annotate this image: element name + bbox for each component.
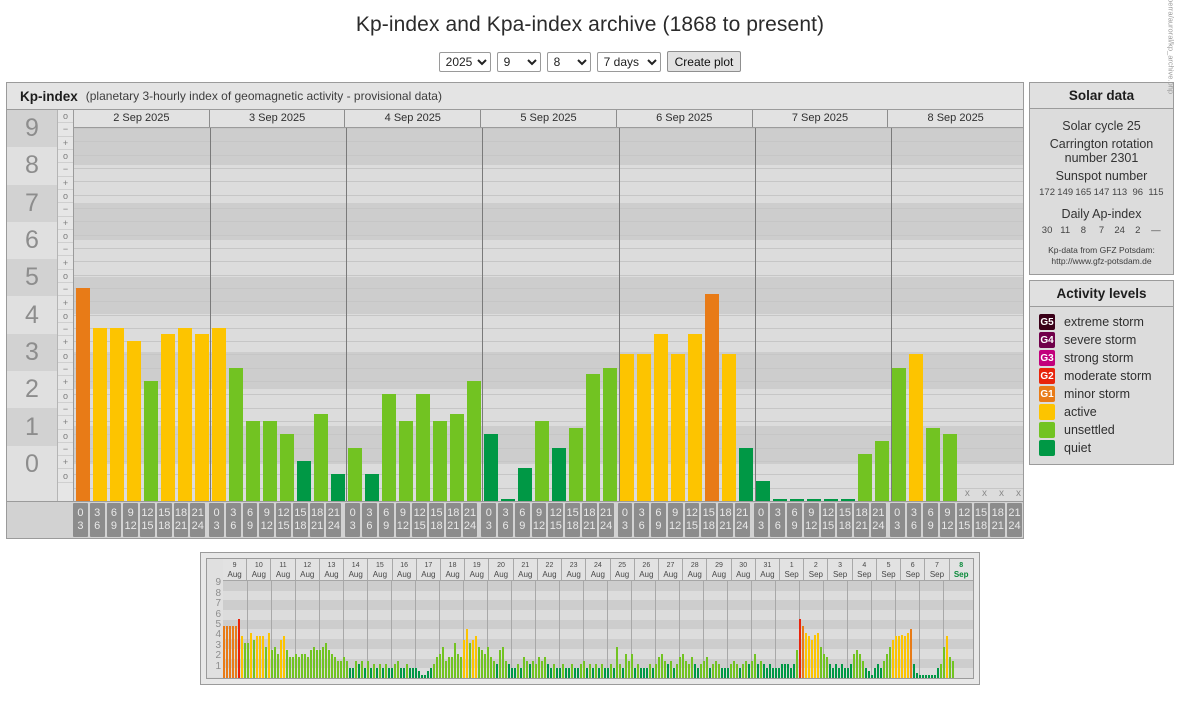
overview-bar bbox=[640, 668, 642, 678]
overview-bar bbox=[517, 664, 519, 678]
overview-bar bbox=[472, 640, 474, 678]
overview-bar bbox=[253, 640, 255, 678]
overview-bar bbox=[349, 668, 351, 678]
overview-bar bbox=[697, 668, 699, 678]
sunspot-value: 115 bbox=[1147, 187, 1165, 198]
overview-bar bbox=[784, 664, 786, 678]
missing-data-marker: x bbox=[960, 488, 974, 499]
overview-day-header[interactable]: 28Aug bbox=[683, 559, 707, 580]
overview-bar bbox=[850, 664, 852, 678]
hour-label: 1821 bbox=[174, 503, 189, 537]
kp-chart-body: 9876543210 o−+o−+o−+o−+o−+o−+o−+o−+o−+o … bbox=[7, 110, 1023, 501]
overview-day-header[interactable]: 31Aug bbox=[756, 559, 780, 580]
overview-bar bbox=[712, 664, 714, 678]
activity-level-row: active bbox=[1030, 403, 1173, 421]
overview-axis-number: 1 bbox=[215, 662, 221, 672]
overview-bar bbox=[547, 664, 549, 678]
page-title: Kp-index and Kpa-index archive (1868 to … bbox=[0, 0, 1180, 37]
overview-bar bbox=[823, 654, 825, 678]
overview-bar bbox=[790, 668, 792, 678]
overview-bar bbox=[496, 664, 498, 678]
hour-label: 2124 bbox=[599, 503, 614, 537]
hour-label: 1821 bbox=[990, 503, 1005, 537]
overview-bar bbox=[751, 661, 753, 678]
hour-label: 69 bbox=[787, 503, 802, 537]
hour-label: 36 bbox=[634, 503, 649, 537]
ap-value: 7 bbox=[1092, 225, 1110, 236]
kp-bar bbox=[637, 354, 651, 501]
overview-bar bbox=[703, 661, 705, 678]
gridline bbox=[74, 181, 1023, 182]
kp-axis-sublevel: o bbox=[58, 390, 73, 403]
gridline bbox=[74, 195, 1023, 196]
kp-index-panel: Kp-index (planetary 3-hourly index of ge… bbox=[6, 82, 1024, 539]
overview-bar bbox=[562, 664, 564, 678]
hour-label: 03 bbox=[618, 503, 633, 537]
overview-bar bbox=[256, 636, 258, 678]
overview-y-axis: 987654321 bbox=[207, 559, 223, 677]
hour-label: 69 bbox=[379, 503, 394, 537]
overview-day-header[interactable]: 16Aug bbox=[393, 559, 417, 580]
overview-bar bbox=[937, 668, 939, 678]
kp-bar bbox=[93, 328, 107, 501]
overview-bar bbox=[862, 661, 864, 678]
overview-bar bbox=[529, 664, 531, 678]
kp-bar bbox=[620, 354, 634, 501]
overview-day-header[interactable]: 7Sep bbox=[925, 559, 949, 580]
overview-bar bbox=[430, 668, 432, 678]
kp-bar bbox=[331, 474, 345, 501]
overview-day-header[interactable]: 17Aug bbox=[417, 559, 441, 580]
plot-controls: 2025 9 8 7 days Create plot bbox=[0, 51, 1180, 72]
overview-bar bbox=[610, 664, 612, 678]
sunspot-value: 172 bbox=[1038, 187, 1056, 198]
kp-bar bbox=[807, 499, 821, 501]
overview-bar bbox=[736, 664, 738, 678]
overview-bar bbox=[448, 657, 450, 678]
overview-bar bbox=[559, 668, 561, 678]
overview-bar bbox=[505, 661, 507, 678]
overview-bar bbox=[826, 657, 828, 678]
credit-line-2[interactable]: http://www.gfz-potsdam.de bbox=[1034, 256, 1169, 267]
kp-day-header: 6 Sep 2025 bbox=[617, 110, 753, 127]
overview-bar bbox=[730, 664, 732, 678]
hour-label: 03 bbox=[754, 503, 769, 537]
kp-panel-title: Kp-index bbox=[20, 89, 78, 104]
overview-bar bbox=[904, 636, 906, 678]
activity-level-chip bbox=[1039, 440, 1055, 456]
missing-data-marker: x bbox=[977, 488, 991, 499]
kp-day-header: 2 Sep 2025 bbox=[74, 110, 210, 127]
overview-bar bbox=[682, 654, 684, 678]
hour-label: 912 bbox=[532, 503, 547, 537]
hour-group-spacer bbox=[887, 502, 889, 538]
overview-bar bbox=[379, 664, 381, 678]
kp-bar bbox=[484, 434, 498, 501]
solar-data-card: Solar data Solar cycle 25 Carrington rot… bbox=[1029, 82, 1174, 275]
kp-y-axis-numbers: 9876543210 bbox=[7, 110, 57, 501]
overview-bar bbox=[367, 661, 369, 678]
sunspot-value: 165 bbox=[1074, 187, 1092, 198]
overview-bar bbox=[463, 640, 465, 678]
overview-bar bbox=[235, 626, 237, 678]
overview-bar bbox=[721, 668, 723, 678]
range-select[interactable]: 7 days bbox=[597, 52, 661, 72]
kp-axis-sublevel: + bbox=[58, 336, 73, 349]
ap-value: 8 bbox=[1074, 225, 1092, 236]
hour-label: 03 bbox=[481, 503, 496, 537]
overview-bar bbox=[838, 668, 840, 678]
overview-axis-band bbox=[223, 639, 973, 649]
overview-bar bbox=[355, 661, 357, 678]
year-select[interactable]: 2025 bbox=[439, 52, 491, 72]
hour-label: 912 bbox=[123, 503, 138, 537]
overview-bar bbox=[889, 647, 891, 678]
hour-label: 2124 bbox=[326, 503, 341, 537]
overview-bar bbox=[478, 647, 480, 678]
overview-bar bbox=[568, 668, 570, 678]
overview-bar bbox=[829, 664, 831, 678]
overview-chart-panel[interactable]: 987654321 9Aug10Aug11Aug12Aug13Aug14Aug1… bbox=[200, 552, 980, 685]
overview-bar bbox=[754, 654, 756, 678]
sunspot-number-values: 17214916514711396115 bbox=[1034, 185, 1169, 198]
solar-data-heading: Solar data bbox=[1030, 83, 1173, 109]
hour-label: 2124 bbox=[463, 503, 478, 537]
activity-level-chip: G3 bbox=[1039, 350, 1055, 366]
overview-bar bbox=[352, 668, 354, 678]
overview-bar bbox=[637, 664, 639, 678]
overview-bar bbox=[931, 675, 933, 678]
overview-bar bbox=[775, 668, 777, 678]
overview-bar bbox=[511, 668, 513, 678]
overview-bar bbox=[481, 650, 483, 678]
overview-bar bbox=[343, 657, 345, 678]
kp-bar bbox=[314, 414, 328, 501]
activity-level-label: unsettled bbox=[1064, 423, 1115, 437]
kp-bar bbox=[365, 474, 379, 501]
overview-bar bbox=[802, 626, 804, 678]
overview-day-separator bbox=[847, 581, 848, 678]
overview-bar bbox=[586, 668, 588, 678]
overview-day-header[interactable]: 21Aug bbox=[514, 559, 538, 580]
overview-bar bbox=[271, 650, 273, 678]
hour-label: 03 bbox=[345, 503, 360, 537]
overview-day-header[interactable]: 8Sep bbox=[950, 559, 973, 580]
overview-bar bbox=[421, 675, 423, 678]
hour-label: 1215 bbox=[276, 503, 291, 537]
create-plot-button[interactable]: Create plot bbox=[667, 51, 742, 72]
overview-bar bbox=[607, 668, 609, 678]
kp-bar bbox=[382, 394, 396, 501]
overview-day-header[interactable]: 23Aug bbox=[562, 559, 586, 580]
overview-bar bbox=[250, 633, 252, 678]
kp-bar bbox=[399, 421, 413, 501]
overview-day-header[interactable]: 1Sep bbox=[780, 559, 804, 580]
missing-data-marker: x bbox=[994, 488, 1008, 499]
kp-bar bbox=[110, 328, 124, 501]
overview-day-header[interactable]: 11Aug bbox=[271, 559, 295, 580]
kp-axis-sublevel: − bbox=[58, 323, 73, 336]
overview-bar bbox=[334, 657, 336, 678]
kp-bar bbox=[688, 334, 702, 501]
overview-bar bbox=[475, 636, 477, 678]
activity-level-row: G1minor storm bbox=[1030, 385, 1173, 403]
overview-bar bbox=[808, 636, 810, 678]
overview-day-header[interactable]: 26Aug bbox=[635, 559, 659, 580]
overview-bar bbox=[880, 668, 882, 678]
month-select[interactable]: 9 bbox=[497, 52, 541, 72]
overview-bar bbox=[745, 661, 747, 678]
overview-bar bbox=[742, 664, 744, 678]
gridline bbox=[74, 248, 1023, 249]
kp-panel-header: Kp-index (planetary 3-hourly index of ge… bbox=[7, 83, 1023, 110]
activity-level-label: active bbox=[1064, 405, 1097, 419]
kp-bar bbox=[450, 414, 464, 501]
kp-axis-sublevel: + bbox=[58, 296, 73, 309]
gridline bbox=[74, 261, 1023, 262]
hour-label: 912 bbox=[940, 503, 955, 537]
overview-bar bbox=[415, 668, 417, 678]
hour-label: 1215 bbox=[685, 503, 700, 537]
kp-bar bbox=[909, 354, 923, 501]
kp-axis-sublevel: o bbox=[58, 190, 73, 203]
gridline bbox=[74, 235, 1023, 236]
sunspot-value: 149 bbox=[1056, 187, 1074, 198]
hour-label: 36 bbox=[226, 503, 241, 537]
overview-bar bbox=[946, 636, 948, 678]
kp-axis-number: 1 bbox=[7, 408, 57, 445]
overview-bar bbox=[799, 619, 801, 678]
activity-level-label: minor storm bbox=[1064, 387, 1130, 401]
activity-levels-card: Activity levels G5extreme stormG4severe … bbox=[1029, 280, 1174, 465]
overview-day-header[interactable]: 29Aug bbox=[707, 559, 731, 580]
overview-bar bbox=[691, 657, 693, 678]
overview-day-separator bbox=[391, 581, 392, 678]
kp-axis-sublevel: − bbox=[58, 363, 73, 376]
overview-bar bbox=[328, 650, 330, 678]
day-separator bbox=[346, 128, 347, 501]
daily-ap-index-label: Daily Ap-index bbox=[1034, 207, 1169, 221]
overview-axis-band bbox=[223, 581, 973, 591]
overview-day-header[interactable]: 25Aug bbox=[611, 559, 635, 580]
hour-group-spacer bbox=[342, 502, 344, 538]
kp-axis-number: 8 bbox=[7, 147, 57, 184]
hour-label: 1518 bbox=[293, 503, 308, 537]
hour-label: 69 bbox=[515, 503, 530, 537]
overview-day-header[interactable]: 22Aug bbox=[538, 559, 562, 580]
overview-bar bbox=[535, 664, 537, 678]
overview-bar bbox=[526, 661, 528, 678]
overview-bar bbox=[898, 636, 900, 678]
activity-level-chip: G5 bbox=[1039, 314, 1055, 330]
kp-bar bbox=[586, 374, 600, 501]
overview-bar bbox=[274, 647, 276, 678]
overview-bar bbox=[922, 675, 924, 678]
activity-levels-heading: Activity levels bbox=[1030, 281, 1173, 307]
kp-bar bbox=[127, 341, 141, 501]
overview-bar bbox=[805, 633, 807, 678]
kp-axis-sublevel: + bbox=[58, 217, 73, 230]
overview-bar bbox=[550, 668, 552, 678]
kp-axis-sublevel: o bbox=[58, 430, 73, 443]
overview-day-header[interactable]: 10Aug bbox=[247, 559, 271, 580]
overview-bar bbox=[277, 654, 279, 678]
overview-day-header[interactable]: 6Sep bbox=[901, 559, 925, 580]
overview-bar bbox=[718, 664, 720, 678]
gridline bbox=[74, 208, 1023, 209]
kp-axis-number: 0 bbox=[7, 446, 57, 483]
kp-hour-labels: 0336699121215151818212124033669912121515… bbox=[72, 501, 1023, 538]
hour-label: 36 bbox=[362, 503, 377, 537]
overview-bar bbox=[874, 668, 876, 678]
kp-axis-sublevel: + bbox=[58, 376, 73, 389]
overview-day-header[interactable]: 14Aug bbox=[344, 559, 368, 580]
overview-bar bbox=[853, 654, 855, 678]
overview-day-header[interactable]: 2Sep bbox=[804, 559, 828, 580]
sunspot-value: 113 bbox=[1111, 187, 1129, 198]
activity-level-chip: G4 bbox=[1039, 332, 1055, 348]
overview-bar bbox=[454, 643, 456, 678]
missing-data-marker: x bbox=[1011, 488, 1023, 499]
kp-bar bbox=[552, 448, 566, 501]
overview-plot-column: 9Aug10Aug11Aug12Aug13Aug14Aug15Aug16Aug1… bbox=[223, 559, 973, 678]
overview-day-header[interactable]: 12Aug bbox=[296, 559, 320, 580]
daily-ap-index-values: 301187242— bbox=[1034, 223, 1169, 236]
overview-bar bbox=[646, 668, 648, 678]
overview-bar bbox=[835, 664, 837, 678]
hour-label: 36 bbox=[498, 503, 513, 537]
kp-bar bbox=[297, 461, 311, 501]
kp-plot-area: 2 Sep 20253 Sep 20254 Sep 20255 Sep 2025… bbox=[74, 110, 1023, 501]
overview-bar bbox=[418, 671, 420, 678]
overview-bar bbox=[361, 661, 363, 678]
hour-label: 03 bbox=[209, 503, 224, 537]
kp-bar bbox=[671, 354, 685, 501]
overview-day-header[interactable]: 18Aug bbox=[441, 559, 465, 580]
overview-day-header[interactable]: 15Aug bbox=[368, 559, 392, 580]
hour-label: 1821 bbox=[854, 503, 869, 537]
overview-bar bbox=[385, 664, 387, 678]
overview-day-header[interactable]: 3Sep bbox=[828, 559, 852, 580]
hour-label: 1518 bbox=[429, 503, 444, 537]
kp-axis-number: 2 bbox=[7, 371, 57, 408]
overview-bar bbox=[913, 664, 915, 678]
overview-bar bbox=[466, 629, 468, 678]
kp-bar bbox=[161, 334, 175, 501]
hour-label: 69 bbox=[243, 503, 258, 537]
activity-level-row: G4severe storm bbox=[1030, 331, 1173, 349]
hour-label: 69 bbox=[651, 503, 666, 537]
kp-bar bbox=[603, 368, 617, 501]
hour-label: 36 bbox=[907, 503, 922, 537]
overview-bar bbox=[487, 647, 489, 678]
axis-band bbox=[74, 277, 1023, 314]
gridline bbox=[74, 288, 1023, 289]
kp-bar bbox=[858, 454, 872, 501]
kp-day-header: 8 Sep 2025 bbox=[888, 110, 1023, 127]
overview-bar bbox=[406, 664, 408, 678]
overview-bar bbox=[373, 664, 375, 678]
overview-day-header[interactable]: 24Aug bbox=[586, 559, 610, 580]
overview-day-header[interactable]: 9Aug bbox=[223, 559, 247, 580]
kp-axis-sublevel: − bbox=[58, 123, 73, 136]
overview-bar bbox=[832, 668, 834, 678]
kp-bar bbox=[824, 499, 838, 501]
overview-bar bbox=[229, 626, 231, 678]
kp-bar bbox=[705, 294, 719, 501]
overview-day-header[interactable]: 20Aug bbox=[489, 559, 513, 580]
overview-bar bbox=[667, 664, 669, 678]
kp-bar bbox=[76, 288, 90, 501]
kp-bar bbox=[144, 381, 158, 501]
overview-bar bbox=[847, 668, 849, 678]
sunspot-value: 147 bbox=[1092, 187, 1110, 198]
overview-bars-canvas bbox=[223, 581, 973, 678]
activity-level-chip: G1 bbox=[1039, 386, 1055, 402]
overview-axis-number: 9 bbox=[215, 578, 221, 588]
day-select[interactable]: 8 bbox=[547, 52, 591, 72]
overview-day-header[interactable]: 30Aug bbox=[732, 559, 756, 580]
overview-bar bbox=[664, 661, 666, 678]
overview-bar bbox=[493, 661, 495, 678]
ap-value: 30 bbox=[1038, 225, 1056, 236]
overview-bar bbox=[298, 657, 300, 678]
hour-label: 1215 bbox=[412, 503, 427, 537]
hour-label: 2124 bbox=[190, 503, 205, 537]
overview-bar bbox=[919, 675, 921, 678]
ap-value: 11 bbox=[1056, 225, 1074, 236]
hour-label: 36 bbox=[770, 503, 785, 537]
overview-axis-number: 4 bbox=[215, 630, 221, 640]
activity-level-label: moderate storm bbox=[1064, 369, 1152, 383]
overview-bar bbox=[424, 675, 426, 678]
kp-day-header: 7 Sep 2025 bbox=[753, 110, 889, 127]
overview-bar bbox=[313, 647, 315, 678]
kp-bar bbox=[535, 421, 549, 501]
kp-bar bbox=[892, 368, 906, 501]
hour-label: 69 bbox=[107, 503, 122, 537]
gridline bbox=[74, 301, 1023, 302]
gridline bbox=[74, 168, 1023, 169]
hour-label: 69 bbox=[923, 503, 938, 537]
overview-bar bbox=[523, 657, 525, 678]
overview-bar bbox=[286, 650, 288, 678]
overview-axis-band bbox=[223, 600, 973, 610]
overview-bar bbox=[394, 664, 396, 678]
overview-bar bbox=[817, 633, 819, 678]
overview-bar bbox=[565, 668, 567, 678]
overview-bar bbox=[409, 668, 411, 678]
kp-day-headers: 2 Sep 20253 Sep 20254 Sep 20255 Sep 2025… bbox=[74, 110, 1023, 128]
overview-day-header[interactable]: 13Aug bbox=[320, 559, 344, 580]
activity-level-row: unsettled bbox=[1030, 421, 1173, 439]
overview-bar bbox=[643, 668, 645, 678]
solar-data-body: Solar cycle 25 Carrington rotation numbe… bbox=[1030, 109, 1173, 274]
overview-bar bbox=[757, 664, 759, 678]
kp-day-header: 3 Sep 2025 bbox=[210, 110, 346, 127]
overview-bar bbox=[895, 636, 897, 678]
overview-day-header[interactable]: 27Aug bbox=[659, 559, 683, 580]
overview-day-header[interactable]: 4Sep bbox=[853, 559, 877, 580]
hour-label: 1821 bbox=[582, 503, 597, 537]
kp-axis-sublevel: − bbox=[58, 403, 73, 416]
overview-bar bbox=[223, 626, 225, 678]
overview-day-header[interactable]: 19Aug bbox=[465, 559, 489, 580]
kp-axis-sublevel: o bbox=[58, 150, 73, 163]
overview-day-header[interactable]: 5Sep bbox=[877, 559, 901, 580]
overview-bar bbox=[589, 664, 591, 678]
activity-level-label: severe storm bbox=[1064, 333, 1136, 347]
